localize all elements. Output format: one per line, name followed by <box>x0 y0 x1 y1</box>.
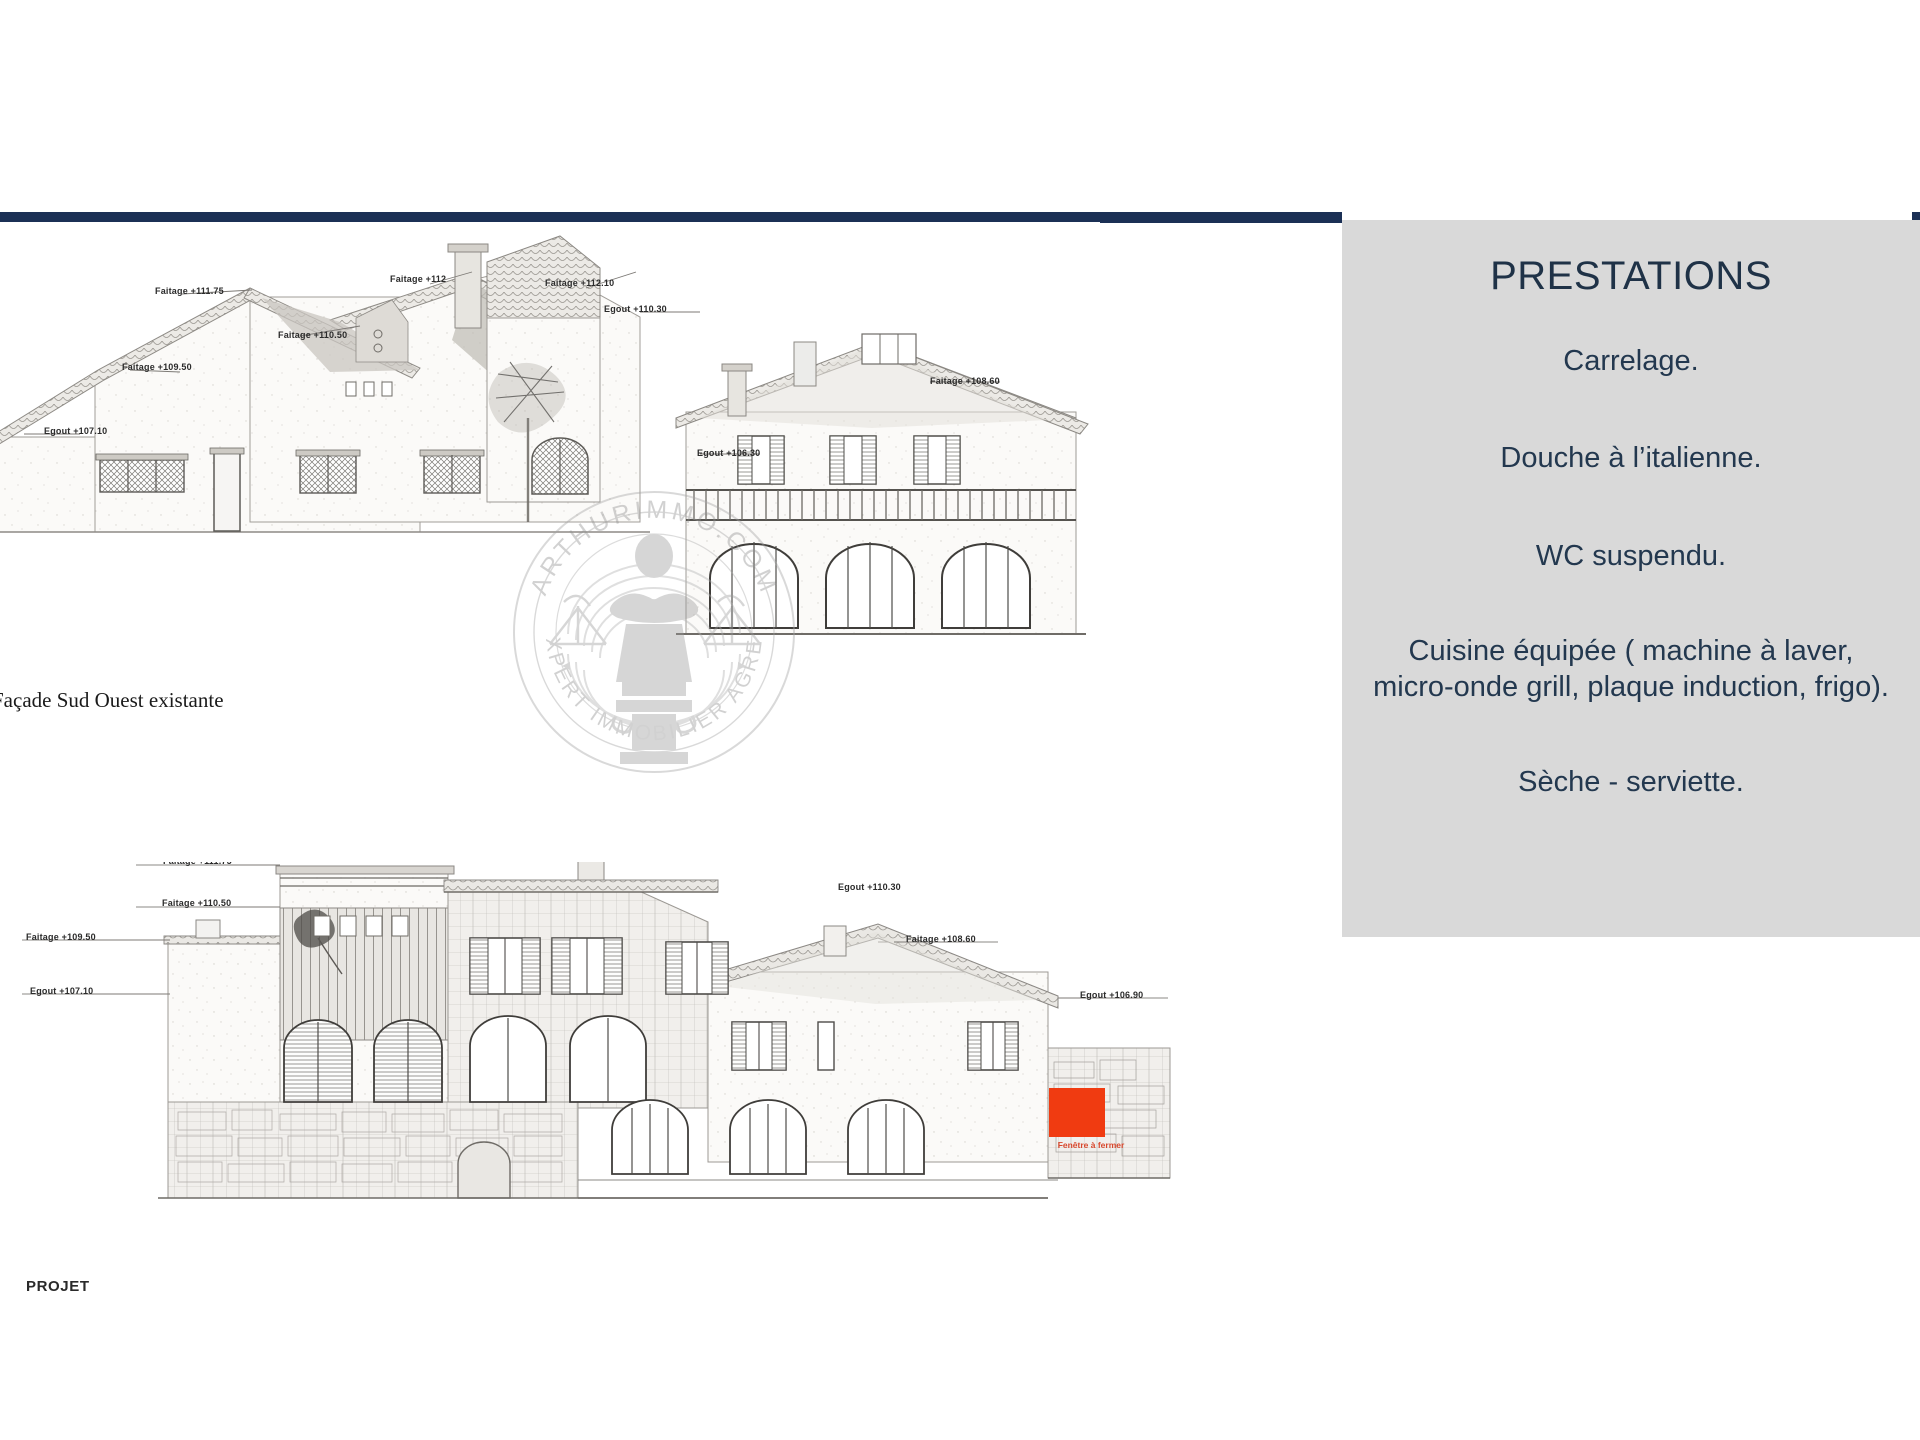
prestations-panel: PRESTATIONS Carrelage. Douche à l’italie… <box>1342 220 1920 937</box>
dim-label-p-faitage-109-50: Faitage +109.50 <box>26 932 96 942</box>
project-elevation-svg <box>18 862 1172 1286</box>
prestation-item-carrelage: Carrelage. <box>1366 344 1896 379</box>
dim-label-p-faitage-111-75: Faitage +111.75 <box>163 862 232 866</box>
dim-label-faitage-110-50: Faitage +110.50 <box>278 330 347 340</box>
slide-canvas: Faitage +111.75 Faitage +112 Faitage +11… <box>0 0 1920 1440</box>
caption-facade-existante: Façade Sud Ouest existante <box>0 688 224 713</box>
elevation-drawing-existing: Faitage +111.75 Faitage +112 Faitage +11… <box>0 222 1100 722</box>
prestation-item-wc: WC suspendu. <box>1366 539 1896 574</box>
dim-label-p-egout-107-10: Egout +107.10 <box>30 986 93 996</box>
dim-label-faitage-109-50: Faitage +109.50 <box>122 362 192 372</box>
existing-elevation-svg <box>0 222 1100 722</box>
dim-label-faitage-112-10: Faitage +112.10 <box>545 278 614 288</box>
dim-label-egout-106-30: Egout +106.30 <box>697 448 760 458</box>
dim-label-faitage-108-60: Faitage +108.60 <box>930 376 1000 386</box>
prestation-item-cuisine: Cuisine équipée ( machine à laver, micro… <box>1366 634 1896 705</box>
dim-label-p-egout-106-90: Egout +106.90 <box>1080 990 1143 1000</box>
dim-label-p-egout-110-30: Egout +110.30 <box>838 882 901 892</box>
dim-label-egout-110-30: Egout +110.30 <box>604 304 667 314</box>
dim-label-faitage-111-75: Faitage +111.75 <box>155 286 224 296</box>
elevation-drawing-project: Faitage +111.75 Faitage +112 Faitage +11… <box>18 862 1172 1286</box>
dim-label-p-faitage-110-50: Faitage +110.50 <box>162 898 231 908</box>
prestation-item-seche-serviette: Sèche - serviette. <box>1366 765 1896 800</box>
fenetre-a-fermer-swatch <box>1049 1088 1105 1137</box>
caption-projet: PROJET <box>26 1278 90 1295</box>
dim-label-p-faitage-108-60: Faitage +108.60 <box>906 934 976 944</box>
dim-label-faitage-112: Faitage +112 <box>390 274 446 284</box>
fenetre-a-fermer-label: Fenêtre à fermer <box>1046 1140 1136 1151</box>
prestation-item-douche: Douche à l’italienne. <box>1366 441 1896 476</box>
prestations-title: PRESTATIONS <box>1366 254 1896 298</box>
dim-label-egout-107-10: Egout +107.10 <box>44 426 107 436</box>
